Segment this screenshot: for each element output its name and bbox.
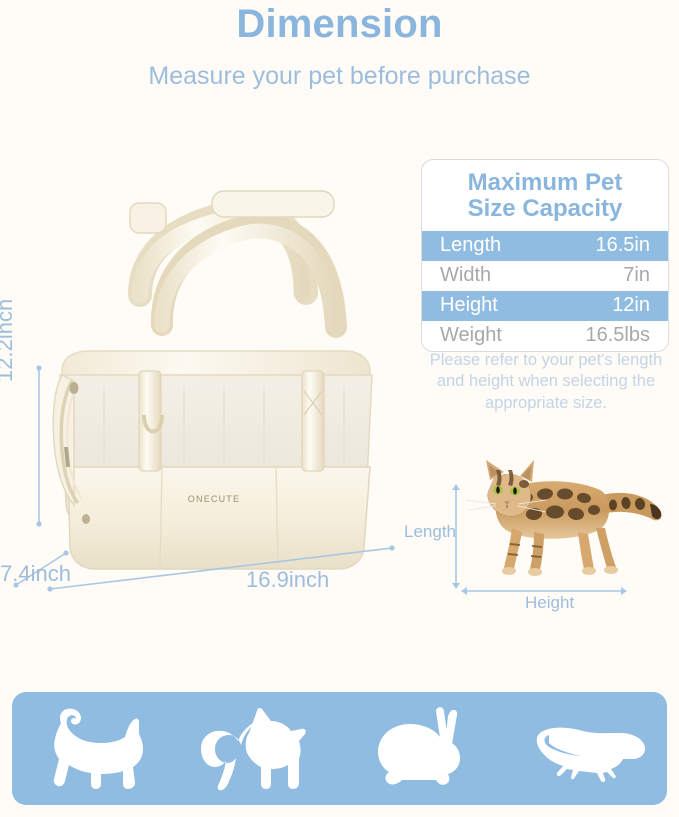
row-value: 7in (623, 264, 650, 287)
row-label: Height (440, 294, 498, 317)
capacity-title-line-1: Maximum Pet (428, 170, 662, 196)
rabbit-silhouette-icon (355, 703, 487, 795)
pet-length-label: Length (404, 522, 456, 542)
bag-width-label: 16.9inch (246, 567, 329, 593)
table-row: Weight 16.5lbs (422, 321, 668, 351)
infographic-page: Dimension Measure your pet before purcha… (0, 0, 679, 817)
row-value: 12in (612, 294, 650, 317)
row-label: Width (440, 264, 491, 287)
capacity-note: Please refer to your pet's length and he… (421, 350, 671, 414)
row-label: Length (440, 234, 501, 257)
bag-depth-label: 7.4inch (0, 561, 71, 587)
pet-height-label: Height (525, 593, 574, 613)
row-value: 16.5lbs (586, 324, 651, 347)
capacity-table-title: Maximum Pet Size Capacity (422, 160, 668, 231)
reference-cat-image (450, 448, 675, 588)
dog-silhouette-icon (192, 703, 324, 795)
pet-carrier-image: ONECUTE (44, 175, 384, 575)
table-row: Length 16.5in (422, 231, 668, 261)
capacity-title-line-2: Size Capacity (428, 196, 662, 222)
bag-height-label: 12.2inch (0, 232, 18, 382)
capacity-table: Maximum Pet Size Capacity Length 16.5in … (421, 159, 669, 352)
brand-label: ONECUTE (188, 494, 240, 504)
table-row: Height 12in (422, 291, 668, 321)
lizard-silhouette-icon (519, 703, 651, 795)
row-value: 16.5in (596, 234, 651, 257)
page-subtitle: Measure your pet before purchase (0, 62, 679, 91)
cat-silhouette-icon (28, 703, 160, 795)
page-title: Dimension (0, 2, 679, 47)
table-row: Width 7in (422, 261, 668, 291)
suitable-pets-band (12, 692, 667, 805)
row-label: Weight (440, 324, 502, 347)
